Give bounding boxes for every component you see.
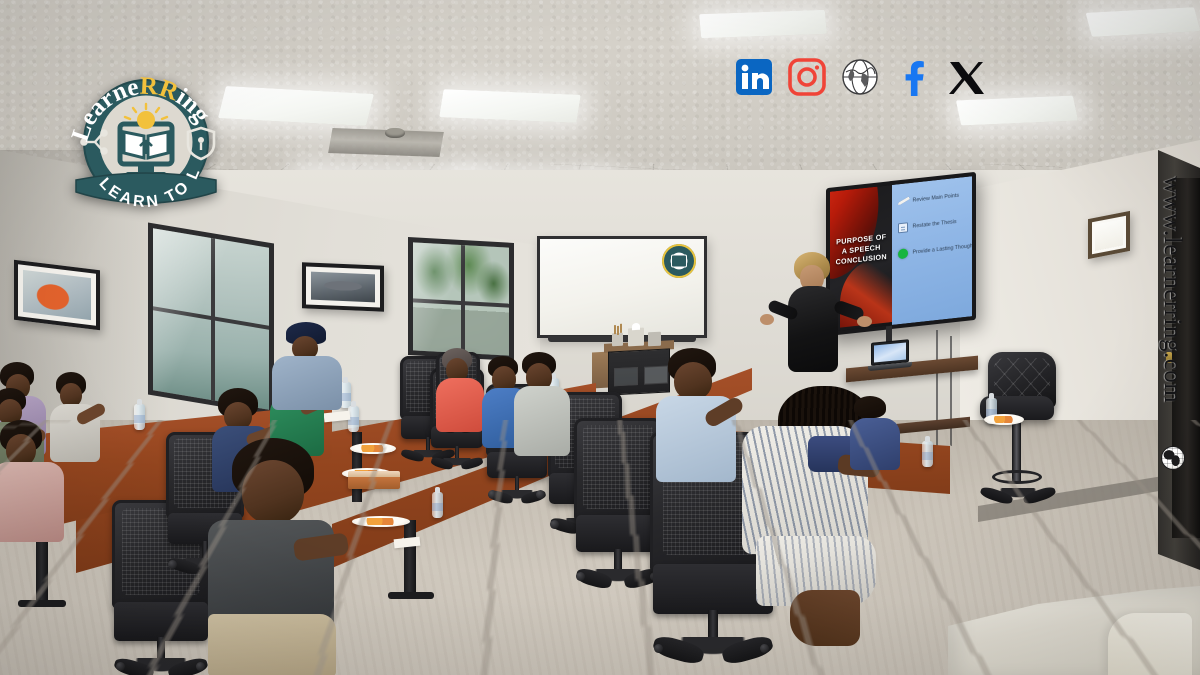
- chair-caster: [488, 490, 497, 499]
- certificate-image: [1095, 219, 1123, 250]
- student-torso: [514, 386, 570, 456]
- table-foot: [388, 592, 434, 599]
- tissue-box: [628, 328, 644, 347]
- x-twitter-icon[interactable]: [945, 56, 987, 98]
- chair-seat: [114, 602, 208, 641]
- framed-certificate: [1088, 211, 1130, 259]
- adult-torso: [272, 356, 342, 410]
- globe-continents: [1162, 447, 1184, 469]
- whiteboard: [537, 236, 707, 338]
- chair-caster: [196, 662, 205, 671]
- student-shorts: [208, 614, 336, 675]
- ceiling-light-panel: [699, 10, 827, 38]
- presenter-laptop[interactable]: [868, 339, 912, 371]
- helicopter-image: [23, 270, 91, 320]
- social-media-bar: [733, 56, 987, 98]
- pencil-cup: [612, 333, 623, 347]
- student: [514, 352, 572, 456]
- facebook-icon[interactable]: [892, 56, 934, 98]
- chair-seat: [576, 515, 660, 552]
- seal-inner-icon: [671, 255, 687, 268]
- chair-caster: [168, 560, 177, 569]
- student-hair: [854, 396, 886, 418]
- water-bottle: [134, 404, 145, 430]
- chair-base: [984, 488, 1052, 504]
- slide-bullet-text: Review Main Points: [912, 193, 959, 204]
- linkedin-icon[interactable]: [733, 56, 775, 98]
- presenter: [772, 252, 856, 392]
- smoke-detector-icon: [385, 128, 405, 138]
- pencil-icon: [898, 196, 908, 207]
- student: [436, 348, 486, 432]
- laptop-display: [874, 342, 906, 362]
- student: [0, 420, 68, 544]
- chair-seat: [487, 452, 547, 478]
- presenter-right-hand: [857, 316, 872, 327]
- water-bottle: [432, 492, 443, 518]
- student-leg: [790, 590, 860, 646]
- chair-base: [579, 569, 656, 589]
- student-torso: [850, 418, 900, 470]
- drape-fold: [1108, 613, 1192, 675]
- power-cable: [950, 336, 952, 446]
- student-torso: [0, 462, 64, 542]
- water-bottle: [922, 441, 933, 467]
- chair-caster: [536, 490, 545, 499]
- chair-backrest: [574, 418, 662, 522]
- student: [656, 348, 740, 484]
- chair-caster: [576, 572, 585, 581]
- book: [348, 476, 400, 489]
- chair-caster: [550, 520, 559, 529]
- cabinet-glass-door[interactable]: [614, 367, 638, 386]
- slide-bullet: Provide a Lasting Thought: [898, 242, 967, 259]
- slide-content-panel: Review Main Points Restate the Thesis Pr…: [892, 176, 972, 325]
- table-leg: [404, 520, 416, 596]
- food-plate: [984, 414, 1024, 425]
- framed-osprey-photo: [302, 262, 384, 311]
- instagram-icon[interactable]: [786, 56, 828, 98]
- osprey-image: [311, 272, 375, 303]
- interior-window: [148, 222, 274, 415]
- chair-mesh: [583, 425, 653, 508]
- slide-bullet: Review Main Points: [898, 190, 967, 207]
- chair-footring: [992, 470, 1042, 484]
- food-items: [360, 445, 386, 452]
- food-items: [365, 518, 397, 525]
- chair-caster: [654, 644, 663, 653]
- learnerring-logo: LearneRRing LEARN TO LEAD: [64, 62, 228, 228]
- student-head: [674, 362, 712, 400]
- chair-base: [118, 658, 204, 675]
- globe-icon: [1161, 446, 1185, 470]
- exterior-window: [408, 237, 514, 361]
- food-plate: [350, 443, 396, 454]
- ceiling-light-panel: [439, 89, 581, 123]
- leather-drafting-chair[interactable]: [978, 352, 1060, 524]
- website-url-wall-text: www.learnerring.com: [1158, 176, 1186, 403]
- adult-in-cap: [272, 322, 346, 410]
- storage-bin: [648, 332, 661, 347]
- student: [850, 396, 902, 470]
- framed-helicopter-photo: [14, 260, 100, 331]
- presenter-left-hand: [760, 314, 774, 325]
- logo-svg: LearneRRing LEARN TO LEAD: [64, 62, 228, 228]
- student-foreground: [208, 438, 344, 675]
- table-foot: [18, 600, 66, 607]
- power-cable: [936, 330, 938, 448]
- learnerring-seal-icon: [662, 244, 696, 278]
- ceiling-light-panel: [956, 96, 1078, 126]
- slide-bullet: Restate the Thesis: [898, 216, 967, 233]
- slide-bullet-text: Restate the Thesis: [912, 219, 956, 230]
- green-dot-icon: [898, 248, 908, 259]
- presenter-body: [788, 286, 838, 372]
- chair-base: [433, 458, 481, 470]
- food-items: [993, 416, 1015, 423]
- globe-website-icon[interactable]: [839, 56, 881, 98]
- slide-bullet-text: Provide a Lasting Thought: [912, 243, 974, 256]
- classroom-photo: PURPOSE OF A SPEECH CONCLUSION Review Ma…: [0, 0, 1200, 675]
- table-leg: [352, 432, 362, 502]
- document-icon: [898, 222, 908, 233]
- student-torso: [436, 378, 484, 432]
- office-chair[interactable]: [574, 418, 662, 586]
- food-plate: [352, 516, 410, 527]
- student-head: [242, 460, 304, 524]
- chair-caster: [116, 662, 125, 671]
